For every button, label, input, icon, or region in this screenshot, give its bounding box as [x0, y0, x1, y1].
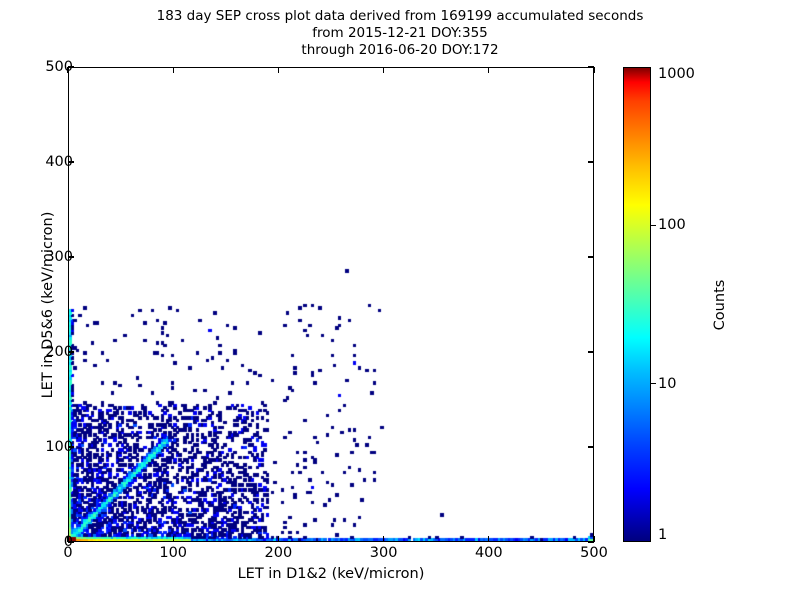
x-tick-label-200: 200	[265, 545, 293, 561]
title-line-1: 183 day SEP cross plot data derived from…	[0, 8, 800, 25]
x-tick-label-500: 500	[580, 545, 608, 561]
y-tick-label-0: 0	[64, 534, 73, 550]
y-tick-right-500	[588, 66, 594, 67]
y-tick-right-0	[588, 541, 594, 542]
colorbar-tick-label-100: 100	[658, 217, 686, 233]
plot-area	[68, 67, 594, 542]
x-tick-200	[278, 536, 279, 542]
colorbar-label: Counts	[712, 225, 728, 385]
colorbar-tick-label-1: 1	[658, 527, 667, 543]
y-tick-right-100	[588, 446, 594, 447]
x-tick-label-400: 400	[475, 545, 503, 561]
colorbar	[623, 67, 651, 542]
x-tick-100	[173, 536, 174, 542]
x-tick-label-300: 300	[370, 545, 398, 561]
chart-title: 183 day SEP cross plot data derived from…	[0, 8, 800, 59]
x-tick-top-300	[383, 67, 384, 73]
y-tick-label-500: 500	[45, 59, 73, 75]
x-tick-top-400	[488, 67, 489, 73]
scatter-density-layer	[69, 68, 593, 541]
colorbar-tick-label-10: 10	[658, 376, 676, 392]
title-line-2: from 2015-12-21 DOY:355	[0, 25, 800, 42]
y-tick-right-400	[588, 161, 594, 162]
y-tick-right-300	[588, 256, 594, 257]
colorbar-tick-100	[651, 225, 656, 226]
x-tick-top-100	[173, 67, 174, 73]
colorbar-tick-10	[651, 383, 656, 384]
x-tick-300	[383, 536, 384, 542]
y-tick-right-200	[588, 351, 594, 352]
x-axis-label: LET in D1&2 (keV/micron)	[68, 566, 594, 582]
x-tick-top-200	[278, 67, 279, 73]
title-line-3: through 2016-06-20 DOY:172	[0, 42, 800, 59]
figure-canvas: 183 day SEP cross plot data derived from…	[0, 0, 800, 600]
colorbar-tick-label-1000: 1000	[658, 66, 695, 82]
x-tick-400	[488, 536, 489, 542]
x-tick-label-100: 100	[159, 545, 187, 561]
y-axis-label: LET in D5&6 (keV/micron)	[40, 115, 56, 495]
x-tick-top-500	[593, 67, 594, 73]
